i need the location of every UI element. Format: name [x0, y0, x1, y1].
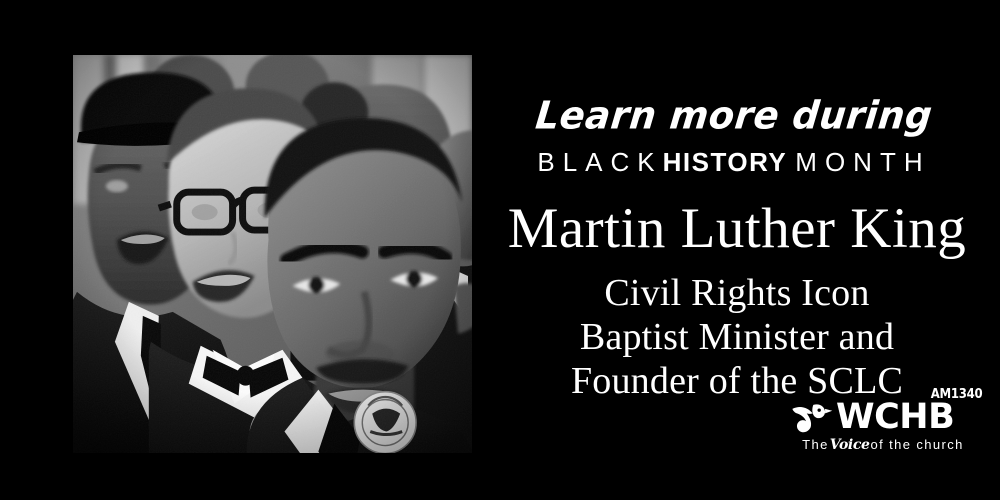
descriptor-line-2: Baptist Minister and	[498, 315, 976, 359]
wchb-station-logo[interactable]: WCHB AM1340 TheVoiceof the church	[788, 393, 978, 455]
wchb-callsign: WCHB	[836, 400, 954, 435]
black-word: BLACK	[537, 147, 662, 177]
station-tagline: TheVoiceof the church	[788, 437, 978, 453]
black-history-month-poster: Learn more during BLACKHISTORYMONTH Mart…	[0, 0, 1000, 500]
logo-row: WCHB AM1340	[788, 400, 978, 436]
descriptor-line-1: Civil Rights Icon	[498, 271, 976, 315]
subject-descriptors: Civil Rights Icon Baptist Minister and F…	[498, 271, 976, 403]
subject-name: Martin Luther King	[498, 198, 976, 260]
month-word: MONTH	[795, 147, 930, 177]
history-word: HISTORY	[663, 147, 788, 177]
tagline-emphasis: Voice	[829, 437, 871, 453]
tagline-prefix: The	[802, 437, 829, 452]
tagline-suffix: of the church	[870, 437, 963, 452]
am-frequency-badge: AM1340	[930, 388, 982, 401]
dove-icon	[791, 401, 833, 435]
text-panel: Learn more during BLACKHISTORYMONTH Mart…	[498, 0, 1000, 500]
learn-more-script-line: Learn more during	[496, 95, 972, 137]
mlk-photograph	[73, 55, 472, 453]
mlk-photograph-image	[73, 55, 472, 453]
black-history-month-line: BLACKHISTORYMONTH	[498, 147, 970, 177]
